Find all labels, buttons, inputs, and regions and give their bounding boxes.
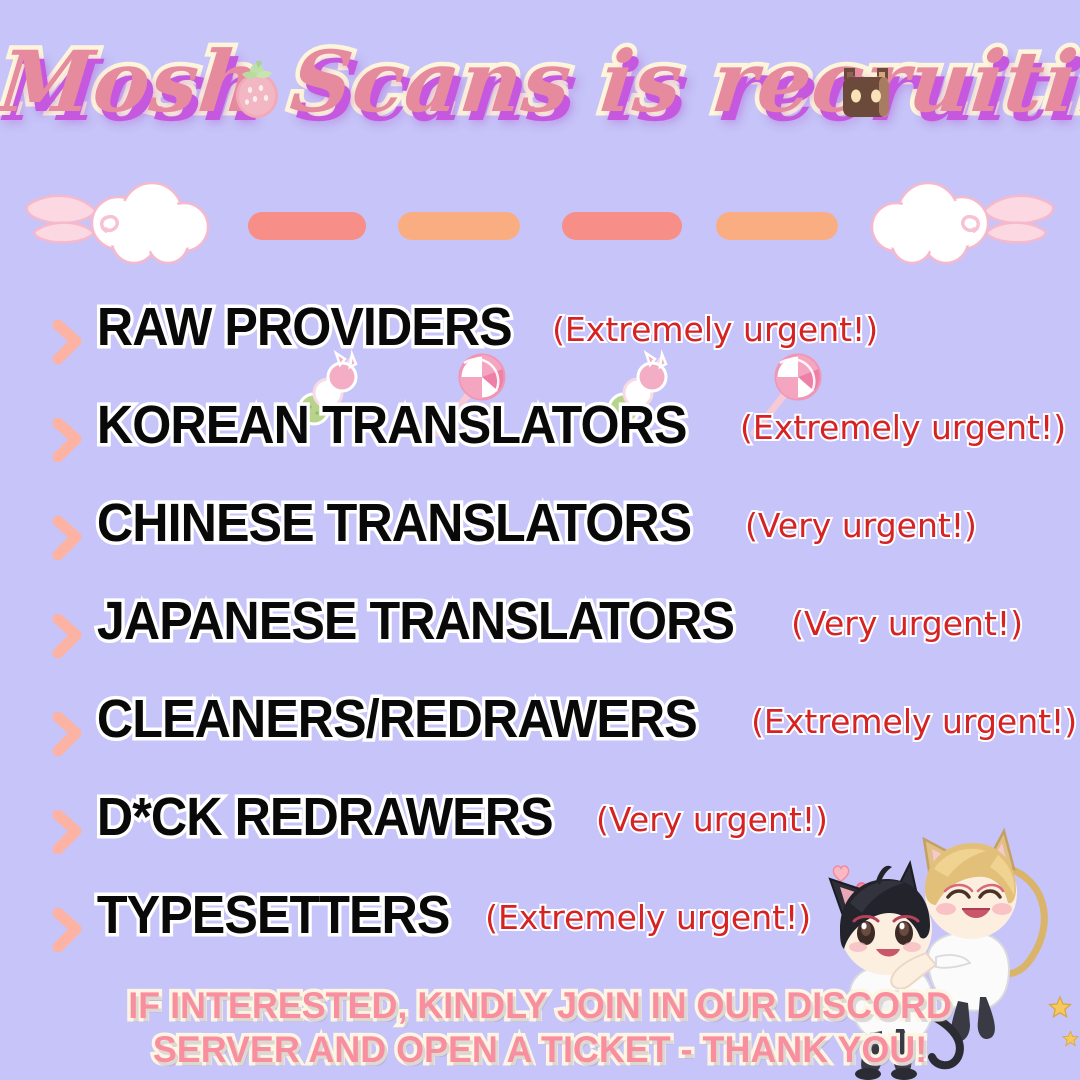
role-urgency-badge: (Very urgent!) (791, 604, 1023, 643)
role-title: TYPESETTERS (56, 884, 449, 946)
role-urgency-badge: (Very urgent!) (745, 506, 977, 545)
decorative-divider (0, 165, 1080, 275)
role-title: JAPANESE TRANSLATORS (56, 590, 734, 652)
list-item: KOREAN TRANSLATORS (Extremely urgent!) (0, 394, 1080, 492)
divider-bar (248, 212, 366, 240)
role-title: RAW PROVIDERS (56, 296, 512, 358)
role-urgency-badge: (Extremely urgent!) (740, 408, 1066, 447)
role-title: D*CK REDRAWERS (56, 786, 553, 848)
list-item: CHINESE TRANSLATORS (Very urgent!) (0, 492, 1080, 590)
strawberry-icon (228, 58, 286, 120)
list-item: RAW PROVIDERS (Extremely urgent!) (0, 296, 1080, 394)
winged-cloud-icon (858, 171, 1058, 271)
role-urgency-badge: (Very urgent!) (596, 800, 828, 839)
cat-head-icon (838, 64, 894, 122)
page-title: Mosh Scans is recruiting! (0, 32, 1080, 131)
winged-cloud-icon (22, 171, 222, 271)
role-urgency-badge: (Extremely urgent!) (485, 898, 811, 937)
list-item: JAPANESE TRANSLATORS (Very urgent!) (0, 590, 1080, 688)
divider-bar (716, 212, 838, 240)
divider-bar (398, 212, 520, 240)
footer-line-2: SERVER AND OPEN A TICKET - THANK YOU! (16, 1028, 1064, 1072)
list-item: CLEANERS/REDRAWERS (Extremely urgent!) (0, 688, 1080, 786)
role-title: CHINESE TRANSLATORS (56, 492, 691, 554)
role-urgency-badge: (Extremely urgent!) (751, 702, 1077, 741)
recruitment-poster: Mosh Scans is recruiting! (0, 0, 1080, 1080)
role-title: KOREAN TRANSLATORS (56, 394, 687, 456)
role-title: CLEANERS/REDRAWERS (56, 688, 697, 750)
footer-line-1: IF INTERESTED, KINDLY JOIN IN OUR DISCOR… (16, 984, 1064, 1028)
title-band: Mosh Scans is recruiting! (0, 26, 1080, 156)
footer-call-to-action: IF INTERESTED, KINDLY JOIN IN OUR DISCOR… (0, 984, 1080, 1072)
role-urgency-badge: (Extremely urgent!) (552, 310, 878, 349)
divider-bar (562, 212, 682, 240)
